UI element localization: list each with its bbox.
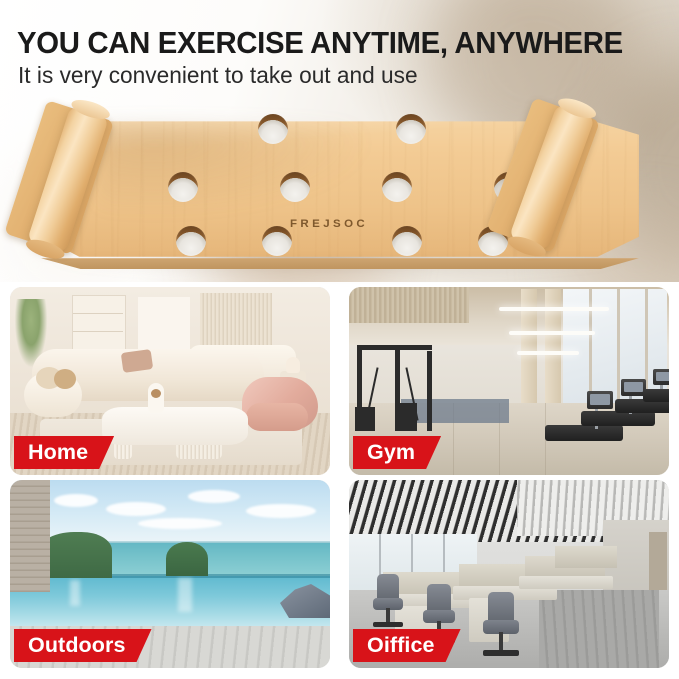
scenario-card-home[interactable]: Home [10,287,330,475]
ceiling-light [509,331,595,335]
treadmill [643,361,669,407]
scenario-badge-outdoors: Outdoors [14,629,152,662]
page-subtitle: It is very convenient to take out and us… [18,62,418,88]
swimming-pool [10,576,330,626]
scenario-label: Oiffice [367,635,435,657]
peg-hole [168,172,198,202]
ceiling-light [499,307,609,311]
scenario-card-gym[interactable]: Gym [349,287,669,475]
scenario-label: Gym [367,442,415,464]
scenario-card-office[interactable]: Oiffice [349,480,669,668]
scenario-badge-home: Home [14,436,114,469]
peg-hole [392,226,422,256]
table-lamp [286,357,300,373]
office-chair [481,592,521,664]
scenario-card-outdoors[interactable]: Outdoors [10,480,330,668]
brand-engraving: FREJSOC [290,218,368,229]
office-chair [371,574,405,636]
peg-hole [262,226,292,256]
ceiling-light [517,351,579,355]
board-shading [98,124,378,217]
scenario-label: Home [28,442,88,464]
product-image: FREJSOC [0,96,679,282]
building-wall [10,480,50,592]
scenario-badge-gym: Gym [353,436,441,469]
peg-hole [176,226,206,256]
scenario-badge-office: Oiffice [353,629,461,662]
page-title: YOU CAN EXERCISE ANYTIME, ANYWHERE [17,27,623,59]
island [166,542,208,576]
scenario-label: Outdoors [28,635,126,657]
peg-hole [258,114,288,144]
peg-hole [280,172,310,202]
coffee-table [102,407,248,445]
peg-hole [382,172,412,202]
peg-hole [396,114,426,144]
bunny-figurine [148,383,164,413]
cable-machine [355,345,439,431]
usage-scenario-grid: Home [0,283,679,679]
